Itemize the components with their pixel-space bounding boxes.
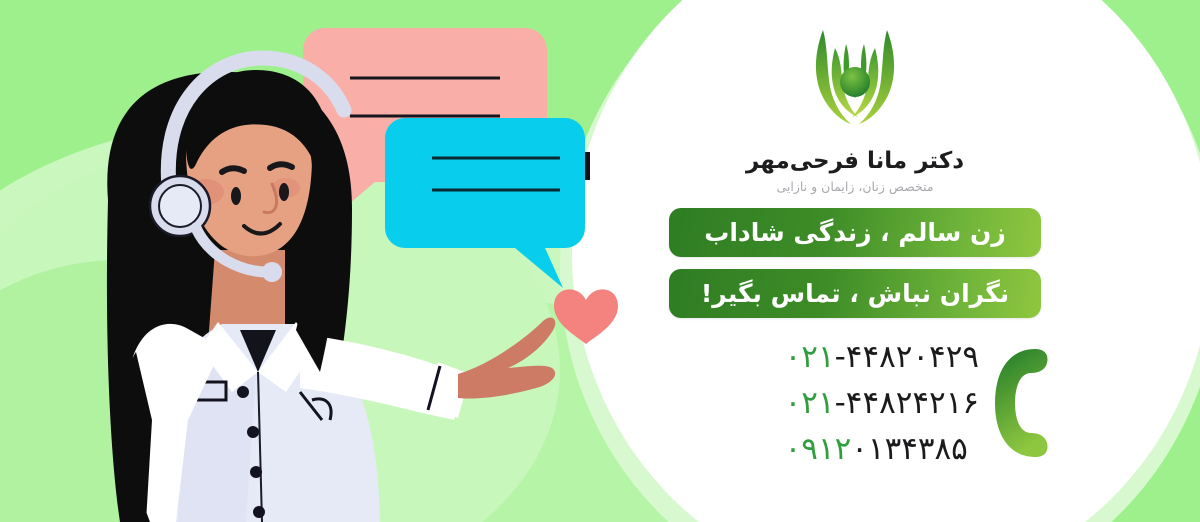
slogan-secondary: نگران نباش ، تماس بگیر!: [669, 269, 1041, 318]
promo-banner: دکتر مانا فرحی‌مهر متخصص زنان، زایمان و …: [0, 0, 1200, 522]
call-center-operator-illustration: [0, 0, 640, 522]
phone-digits: ۴۴۸۲۴۲۱۶: [846, 385, 979, 421]
brand-name: دکتر مانا فرحی‌مهر: [746, 148, 964, 174]
eye-right: [279, 183, 289, 201]
phone-number-list: ۰۲۱-۴۴۸۲۰۴۲۹ ۰۲۱-۴۴۸۲۴۲۱۶ ۰۹۱۲۰۱۳۴۳۸۵: [785, 336, 979, 470]
slogan-primary: زن سالم ، زندگی شاداب: [669, 208, 1041, 257]
phone-digits: ۴۴۸۲۰۴۲۹: [846, 339, 979, 375]
phone-handset-glyph: [991, 345, 1053, 461]
uniform-button: [237, 386, 249, 398]
phone-area-code: ۰۲۱: [785, 385, 835, 421]
phone-number-2[interactable]: ۰۲۱-۴۴۸۲۴۲۱۶: [785, 382, 979, 424]
phone-area-code: ۰۹۱۲: [785, 431, 852, 467]
headset-earcup-inner: [159, 185, 201, 227]
headset-mic-tip: [262, 262, 282, 282]
eye-left: [231, 187, 241, 205]
phone-number-3[interactable]: ۰۹۱۲۰۱۳۴۳۸۵: [785, 428, 979, 470]
phone-handset-icon: [989, 343, 1055, 463]
contact-phones: ۰۲۱-۴۴۸۲۰۴۲۹ ۰۲۱-۴۴۸۲۴۲۱۶ ۰۹۱۲۰۱۳۴۳۸۵: [655, 336, 1055, 470]
uniform-button: [253, 506, 265, 518]
phone-number-1[interactable]: ۰۲۱-۴۴۸۲۰۴۲۹: [785, 336, 979, 378]
phone-separator: -: [835, 339, 846, 375]
leaf-person-logo-icon: [795, 22, 915, 140]
phone-area-code: ۰۲۱: [785, 339, 835, 375]
phone-digits: ۰۱۳۴۳۸۵: [851, 431, 968, 467]
phone-separator: -: [835, 385, 846, 421]
brand-subtitle: متخصص زنان، زایمان و نازایی: [776, 179, 933, 194]
uniform-button: [247, 426, 259, 438]
contact-panel: دکتر مانا فرحی‌مهر متخصص زنان، زایمان و …: [640, 0, 1070, 522]
heart-icon: [554, 289, 618, 344]
uniform-button: [250, 466, 262, 478]
